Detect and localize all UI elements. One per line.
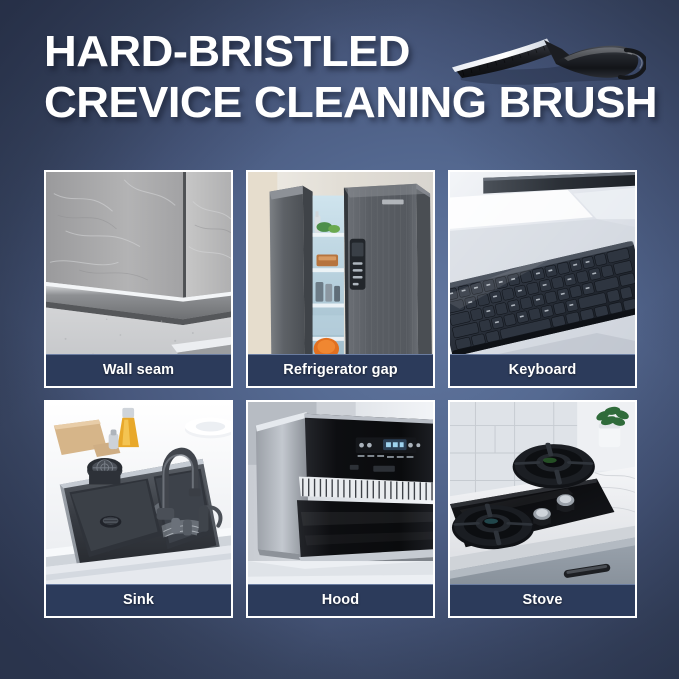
use-case-card-wall-seam[interactable]: Wall seam [44,170,233,388]
use-case-card-hood[interactable]: Hood [246,400,435,618]
use-case-card-keyboard[interactable]: Keyboard [448,170,637,388]
product-infographic-poster: HARD-BRISTLED CREVICE CLEANING BRUSH [0,0,679,679]
card-label-bar: Hood [248,584,433,616]
card-label-text: Stove [523,593,563,608]
card-label-text: Sink [123,593,154,608]
card-label-bar: Sink [46,584,231,616]
use-case-card-refrigerator-gap[interactable]: Refrigerator gap [246,170,435,388]
use-case-card-stove[interactable]: Stove [448,400,637,618]
card-label-text: Wall seam [103,363,174,378]
use-case-grid: Wall seam [44,170,636,618]
card-label-text: Hood [322,593,359,608]
crevice-cleaning-brush-icon [438,16,646,96]
card-label-bar: Refrigerator gap [248,354,433,386]
use-case-card-sink[interactable]: Sink [44,400,233,618]
card-label-bar: Keyboard [450,354,635,386]
card-label-bar: Wall seam [46,354,231,386]
card-label-bar: Stove [450,584,635,616]
card-label-text: Keyboard [509,363,577,378]
card-label-text: Refrigerator gap [283,363,397,378]
